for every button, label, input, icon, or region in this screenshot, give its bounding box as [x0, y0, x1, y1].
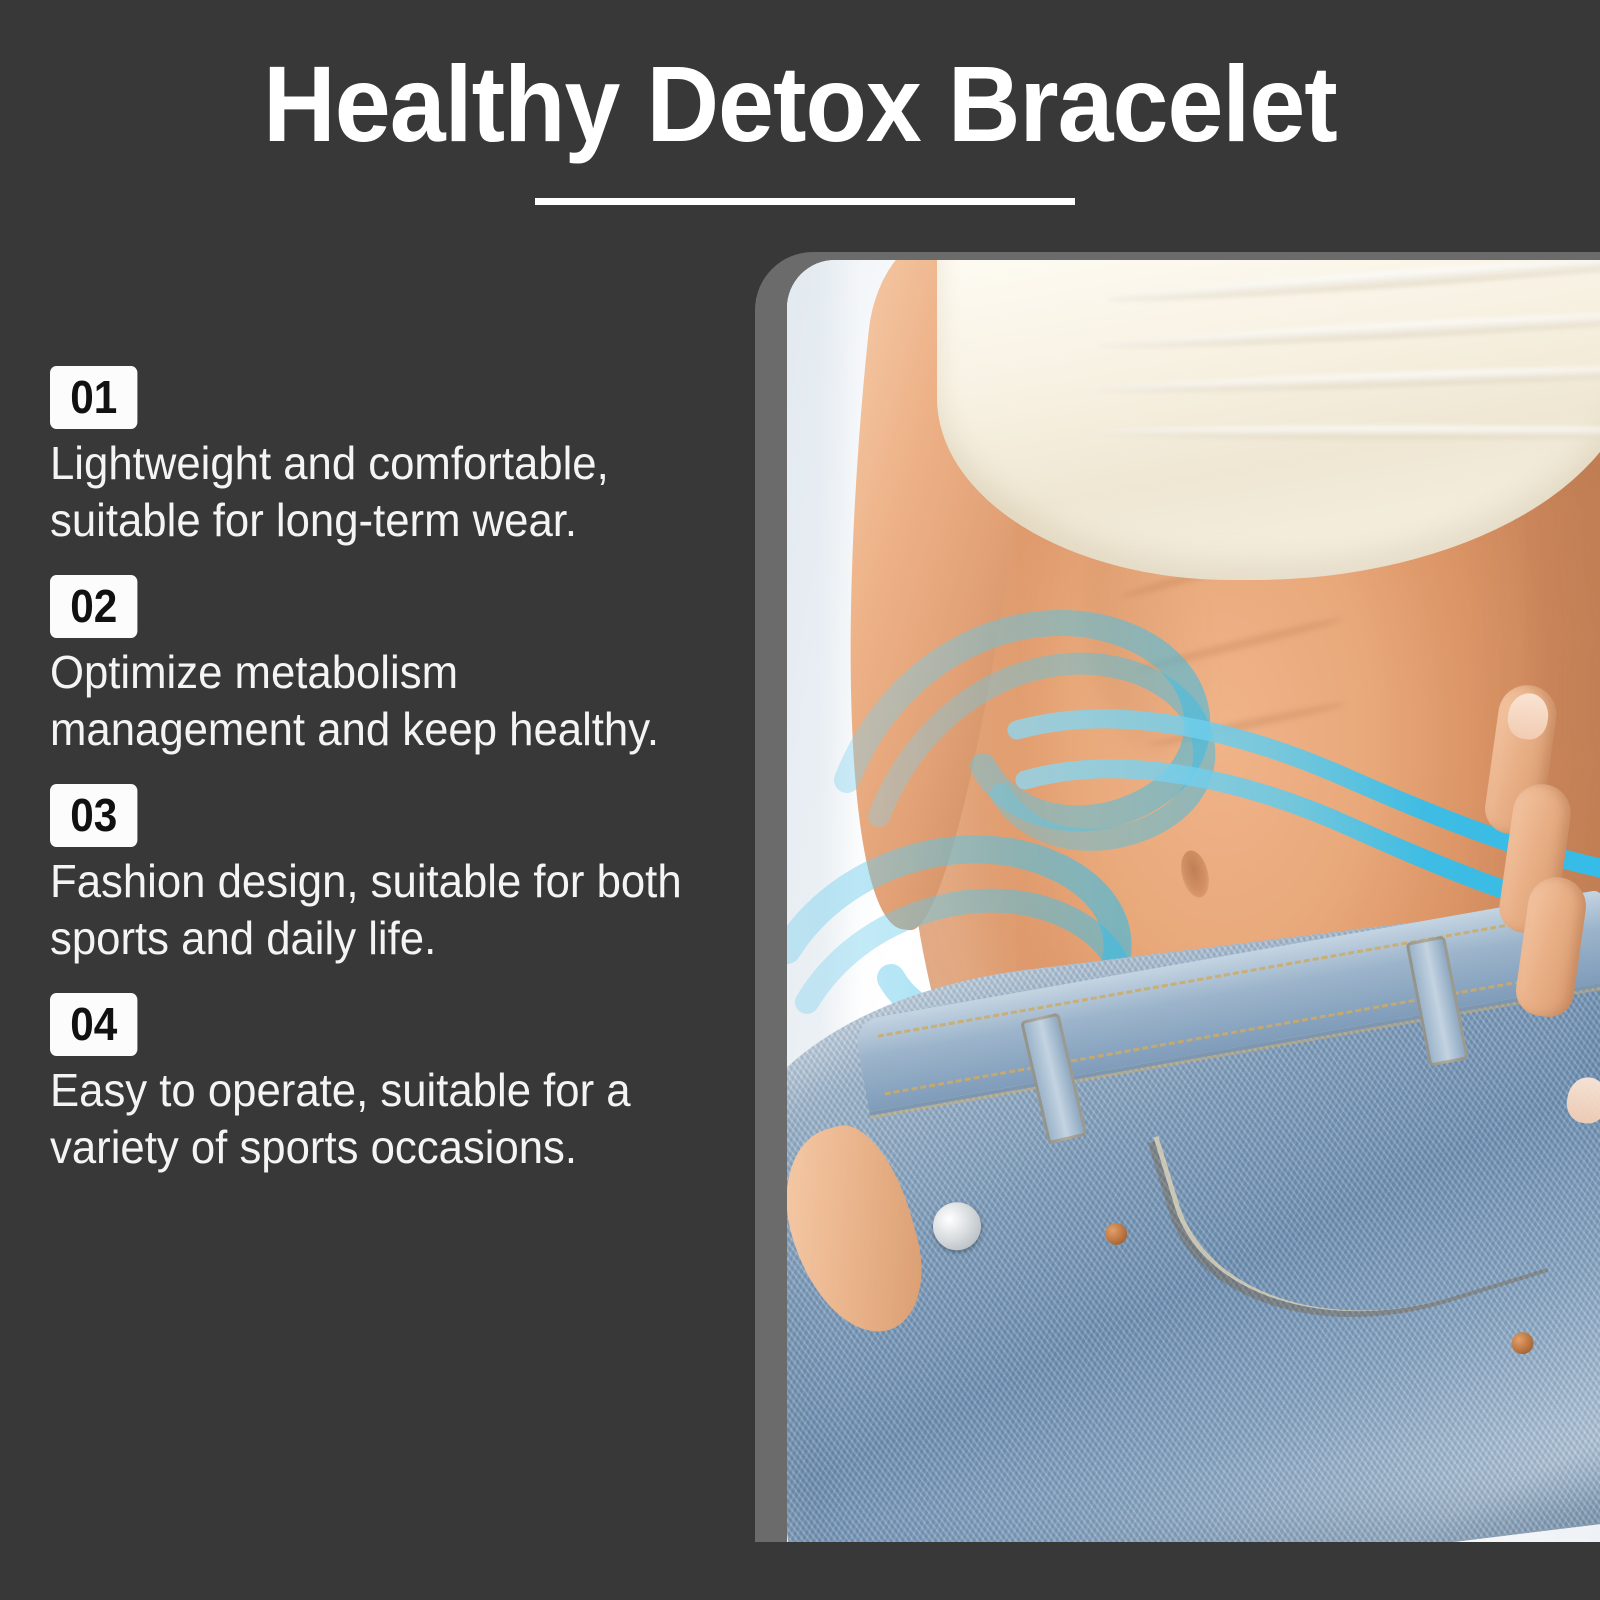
- feature-text-01: Lightweight and comfortable, suitable fo…: [50, 435, 715, 549]
- product-photo-frame: [755, 252, 1600, 1542]
- fabric-fold-3: [1092, 361, 1600, 398]
- feature-list: 01 Lightweight and comfortable, suitable…: [50, 366, 750, 1176]
- feature-item-02: 02 Optimize metabolism management and ke…: [50, 575, 750, 758]
- feature-item-03: 03 Fashion design, suitable for both spo…: [50, 784, 750, 967]
- feature-text-03: Fashion design, suitable for both sports…: [50, 853, 715, 967]
- feature-number-badge-03: 03: [50, 784, 138, 847]
- feature-text-02: Optimize metabolism management and keep …: [50, 644, 715, 758]
- poster-header: Healthy Detox Bracelet: [0, 0, 1600, 230]
- feature-number-badge-02: 02: [50, 575, 138, 638]
- feature-number-badge-01: 01: [50, 366, 138, 429]
- product-photo: [787, 260, 1600, 1542]
- feature-text-04: Easy to operate, suitable for a variety …: [50, 1062, 715, 1176]
- feature-item-01: 01 Lightweight and comfortable, suitable…: [50, 366, 750, 549]
- fingernail-1: [1505, 691, 1551, 742]
- title-divider: [535, 198, 1075, 205]
- page-title: Healthy Detox Bracelet: [56, 44, 1544, 164]
- product-infographic-poster: Healthy Detox Bracelet 01 Lightweight an…: [0, 0, 1600, 1600]
- feature-number-badge-04: 04: [50, 993, 138, 1056]
- fabric-fold-1: [1105, 260, 1600, 308]
- feature-item-04: 04 Easy to operate, suitable for a varie…: [50, 993, 750, 1176]
- product-photo-content: [787, 260, 1600, 1542]
- fabric-fold-4: [1087, 426, 1600, 439]
- fabric-fold-2: [1097, 305, 1600, 353]
